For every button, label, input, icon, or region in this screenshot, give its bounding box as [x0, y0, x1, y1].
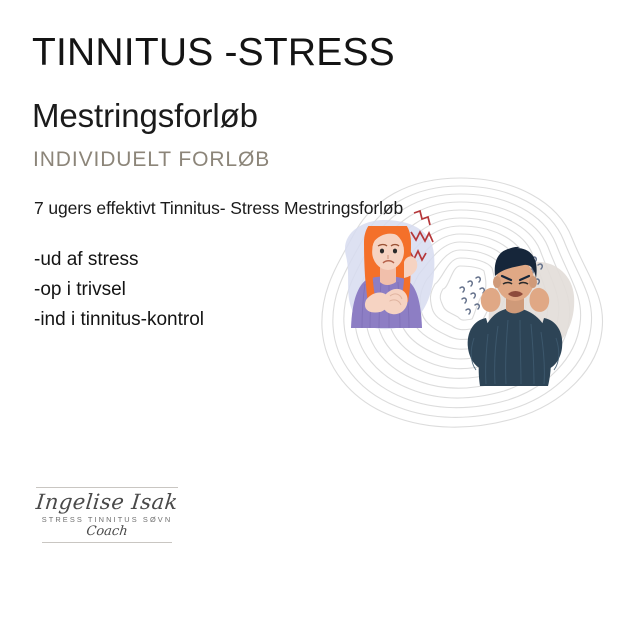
- page-title: TINNITUS -STRESS: [32, 33, 395, 74]
- list-item: -ind i tinnitus-kontrol: [34, 305, 204, 335]
- lead-paragraph: 7 ugers effektivt Tinnitus- Stress Mestr…: [34, 198, 403, 219]
- benefits-list: -ud af stress -op i trivsel -ind i tinni…: [34, 245, 204, 335]
- poster-canvas: TINNITUS -STRESS Mestringsforløb INDIVID…: [0, 0, 620, 620]
- page-subtitle: Mestringsforløb: [32, 99, 258, 134]
- logo-divider-top: [36, 487, 178, 488]
- logo-role: Coach: [35, 525, 178, 538]
- logo-name: Ingelise Isak: [35, 492, 179, 513]
- brand-logo: Ingelise Isak STRESS TINNITUS SØVN Coach: [36, 487, 178, 543]
- list-item: -ud af stress: [34, 245, 204, 275]
- page-kicker: INDIVIDUELT FORLØB: [33, 148, 270, 171]
- list-item: -op i trivsel: [34, 275, 204, 305]
- logo-tagline: STRESS TINNITUS SØVN: [36, 515, 178, 524]
- logo-divider-bottom: [42, 542, 173, 543]
